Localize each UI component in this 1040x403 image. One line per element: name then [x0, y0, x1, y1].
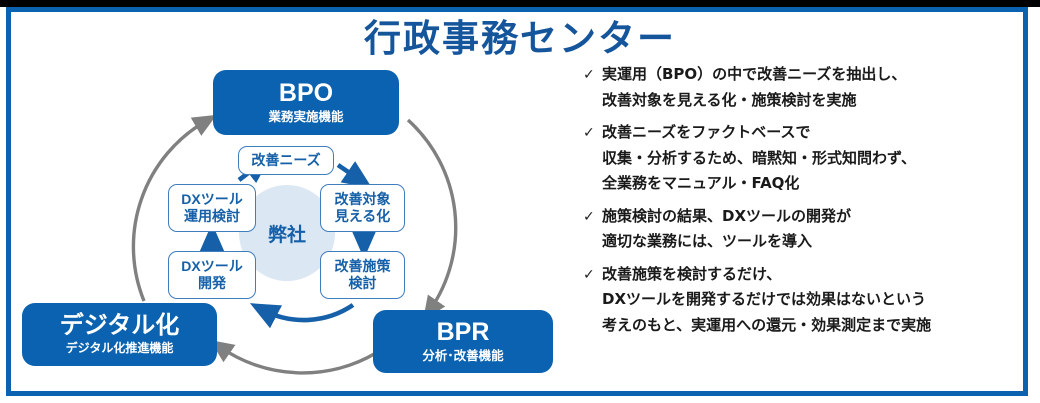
cycle-node-operate-line1: DXツール	[181, 191, 242, 208]
cycle-node-measures-line1: 改善施策	[335, 258, 391, 275]
cycle-node-develop[interactable]: DXツール 開発	[168, 251, 256, 299]
top-black-strip	[0, 0, 1040, 7]
outer-arrow-bpo-to-bpr	[408, 120, 456, 310]
cycle-node-needs-line1: 改善ニーズ	[251, 152, 320, 169]
function-box-digital-subtitle: デジタル化推進機能	[66, 341, 174, 355]
bullet-line: 改善施策を検討するだけ、	[602, 262, 1028, 288]
cycle-node-visualize[interactable]: 改善対象 見える化	[320, 184, 405, 232]
bullet-line: 適切な業務には、ツールを導入	[602, 229, 1028, 255]
function-box-bpo[interactable]: BPO 業務実施機能	[213, 70, 399, 135]
bullet-line: 改善対象を見える化・施策検討を実施	[602, 88, 1028, 114]
function-box-digital[interactable]: デジタル化 デジタル化推進機能	[22, 303, 217, 366]
function-box-bpo-title: BPO	[279, 80, 333, 106]
bullet-line: 改善ニーズをファクトベースで	[602, 120, 1028, 146]
cycle-node-measures-line2: 検討	[349, 275, 377, 292]
check-icon: ✓	[583, 120, 602, 197]
function-box-bpr-title: BPR	[437, 319, 490, 345]
inner-arrow-needs-to-visualize	[338, 165, 360, 180]
cycle-node-develop-line1: DXツール	[181, 258, 242, 275]
page-title: 行政事務センター	[0, 8, 1040, 62]
bullet-item: ✓ 実運用（BPO）の中で改善ニーズを抽出し、 改善対象を見える化・施策検討を実…	[583, 62, 1028, 113]
function-box-bpo-subtitle: 業務実施機能	[268, 110, 343, 125]
cycle-node-operate-line2: 運用検討	[184, 208, 240, 225]
bullet-line: 全業務をマニュアル・FAQ化	[602, 171, 1028, 197]
cycle-node-needs[interactable]: 改善ニーズ	[238, 146, 334, 175]
bullet-text: 改善ニーズをファクトベースで 収集・分析するため、暗黙知・形式知問わず、 全業務…	[602, 120, 1028, 197]
outer-arrow-bpr-to-digital	[220, 347, 376, 373]
bullet-list: ✓ 実運用（BPO）の中で改善ニーズを抽出し、 改善対象を見える化・施策検討を実…	[583, 62, 1028, 345]
cycle-node-visualize-line1: 改善対象	[335, 191, 391, 208]
check-icon: ✓	[583, 204, 602, 255]
cycle-node-visualize-line2: 見える化	[335, 208, 391, 225]
check-icon: ✓	[583, 62, 602, 113]
bullet-line: 収集・分析するため、暗黙知・形式知問わず、	[602, 146, 1028, 172]
function-box-digital-title: デジタル化	[60, 313, 180, 338]
bullet-item: ✓ 改善施策を検討するだけ、 DXツールを開発するだけでは効果はないという 考え…	[583, 262, 1028, 339]
bullet-line: 実運用（BPO）の中で改善ニーズを抽出し、	[602, 62, 1028, 88]
cycle-node-operate[interactable]: DXツール 運用検討	[168, 184, 256, 232]
bullet-text: 実運用（BPO）の中で改善ニーズを抽出し、 改善対象を見える化・施策検討を実施	[602, 62, 1028, 113]
bullet-line: 考えのもと、実運用への還元・効果測定まで実施	[602, 313, 1028, 339]
bullet-line: 施策検討の結果、DXツールの開発が	[602, 204, 1028, 230]
bullet-text: 改善施策を検討するだけ、 DXツールを開発するだけでは効果はないという 考えのも…	[602, 262, 1028, 339]
bullet-item: ✓ 施策検討の結果、DXツールの開発が 適切な業務には、ツールを導入	[583, 204, 1028, 255]
check-icon: ✓	[583, 262, 602, 339]
bullet-item: ✓ 改善ニーズをファクトベースで 収集・分析するため、暗黙知・形式知問わず、 全…	[583, 120, 1028, 197]
cycle-diagram: 弊社 BPO 業務実施機能 デジタル化 デジタル化推進機能 BPR 分析･改善機…	[8, 58, 568, 388]
cycle-node-measures[interactable]: 改善施策 検討	[320, 251, 405, 299]
inner-arrow-measures-to-develop	[263, 305, 353, 320]
bullet-text: 施策検討の結果、DXツールの開発が 適切な業務には、ツールを導入	[602, 204, 1028, 255]
function-box-bpr-subtitle: 分析･改善機能	[422, 349, 503, 364]
bullet-line: DXツールを開発するだけでは効果はないという	[602, 287, 1028, 313]
cycle-node-develop-line2: 開発	[198, 275, 226, 292]
function-box-bpr[interactable]: BPR 分析･改善機能	[373, 310, 553, 373]
